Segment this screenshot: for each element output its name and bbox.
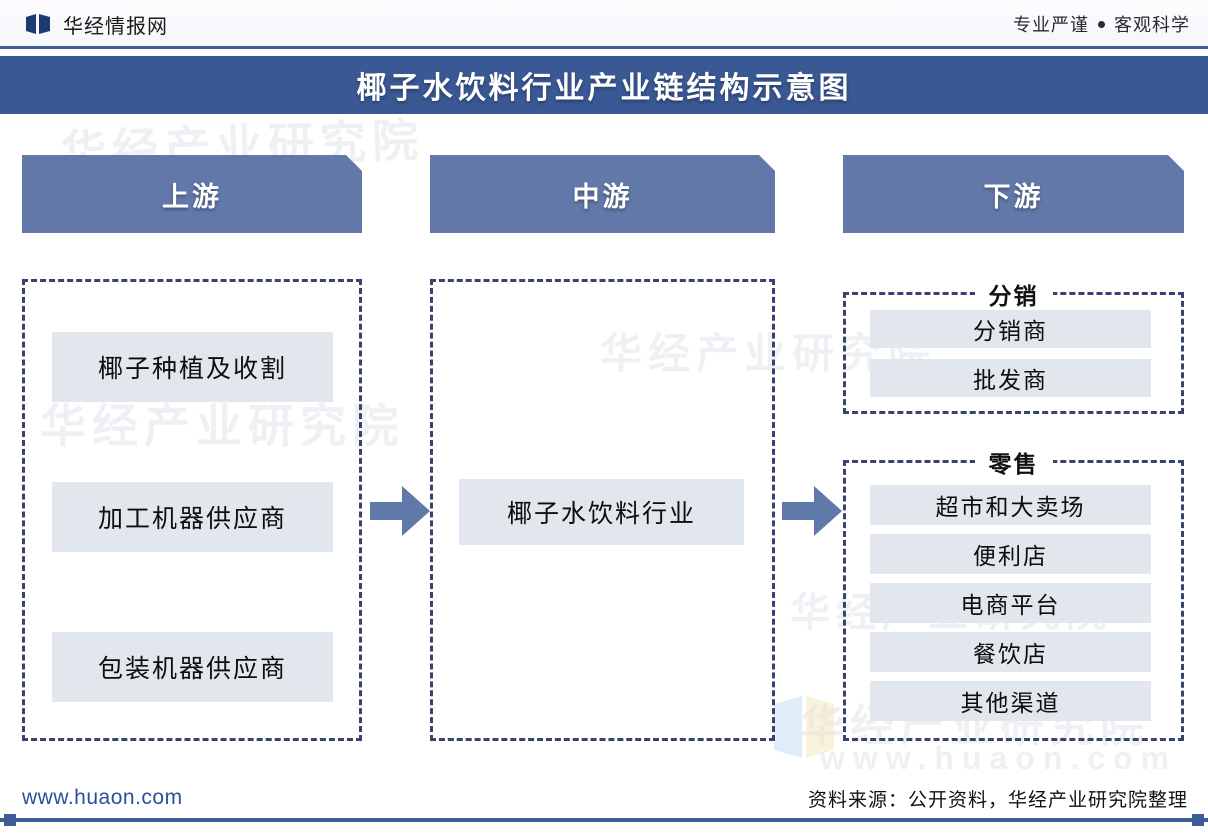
- stage-header-label: 下游: [984, 175, 1044, 214]
- distribution-panel-label: 分销: [975, 277, 1053, 311]
- midstream-item[interactable]: 椰子水饮料行业: [459, 479, 744, 545]
- tagline-right: 客观科学: [1114, 11, 1190, 37]
- footer-divider: [0, 818, 1208, 822]
- page-title: 椰子水饮料行业产业链结构示意图: [357, 63, 852, 107]
- watermark-logo-icon: [768, 688, 840, 766]
- retail-item[interactable]: 其他渠道: [870, 681, 1151, 721]
- infographic-page: 华经产业研究院 华经产业研究院 华经产业研究院 华经产业研究院 华经产业研究院 …: [0, 0, 1208, 834]
- retail-item[interactable]: 餐饮店: [870, 632, 1151, 672]
- distribution-item[interactable]: 分销商: [870, 310, 1151, 348]
- book-open-icon: [24, 12, 52, 36]
- upstream-item[interactable]: 包装机器供应商: [52, 632, 333, 702]
- retail-item[interactable]: 电商平台: [870, 583, 1151, 623]
- top-divider: [0, 46, 1208, 49]
- top-bar: 华经情报网 专业严谨 客观科学: [0, 0, 1208, 48]
- stage-header-upstream: 上游: [22, 155, 362, 233]
- stage-header-downstream: 下游: [843, 155, 1184, 233]
- retail-item[interactable]: 超市和大卖场: [870, 485, 1151, 525]
- bullet-dot-icon: [1098, 21, 1105, 28]
- stage-header-label: 中游: [573, 175, 633, 214]
- distribution-item[interactable]: 批发商: [870, 359, 1151, 397]
- upstream-item[interactable]: 加工机器供应商: [52, 482, 333, 552]
- tagline: 专业严谨 客观科学: [1013, 11, 1190, 37]
- footer-cap-left: [4, 814, 16, 826]
- stage-header-label: 上游: [162, 175, 222, 214]
- watermark-url: www.huaon.com: [820, 740, 1177, 777]
- brand-name: 华经情报网: [63, 10, 168, 39]
- brand: 华经情报网: [24, 10, 168, 39]
- footer-cap-right: [1192, 814, 1204, 826]
- right-arrow-icon: [782, 480, 844, 542]
- right-arrow-icon: [370, 480, 432, 542]
- retail-item[interactable]: 便利店: [870, 534, 1151, 574]
- retail-panel-label: 零售: [975, 445, 1053, 479]
- stage-header-midstream: 中游: [430, 155, 775, 233]
- title-band: 椰子水饮料行业产业链结构示意图: [0, 56, 1208, 114]
- footer-url[interactable]: www.huaon.com: [22, 786, 183, 810]
- footer: www.huaon.com 资料来源：公开资料，华经产业研究院整理: [0, 778, 1208, 818]
- tagline-left: 专业严谨: [1013, 11, 1089, 37]
- footer-source: 资料来源：公开资料，华经产业研究院整理: [808, 785, 1188, 812]
- upstream-item[interactable]: 椰子种植及收割: [52, 332, 333, 402]
